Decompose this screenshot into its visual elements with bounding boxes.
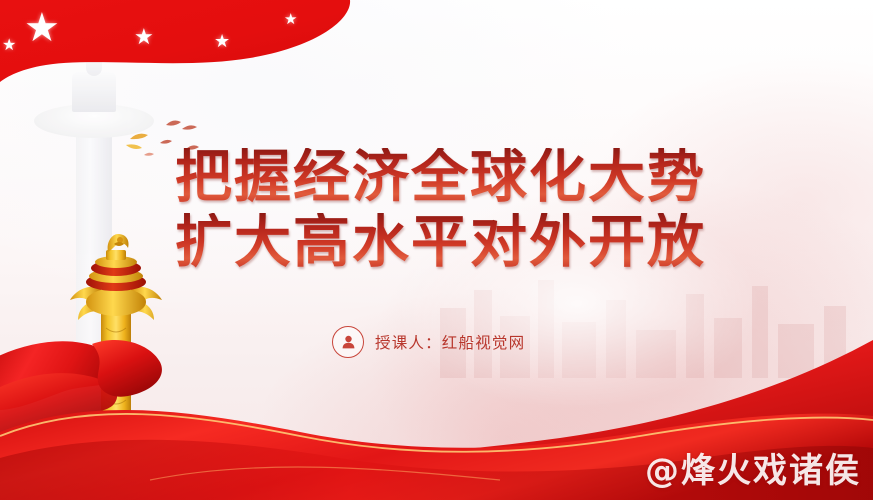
- presentation-slide: ★★★★★ 把握经济全球化大势 扩大高水平对外开放: [0, 0, 873, 500]
- title-line-1: 把握经济全球化大势: [175, 148, 705, 207]
- star-icon: ★: [24, 8, 60, 48]
- star-icon: ★: [214, 32, 230, 50]
- top-red-banner: ★★★★★: [0, 0, 360, 110]
- star-icon: ★: [284, 12, 297, 27]
- watermark-text: @烽火戏诸侯: [645, 443, 861, 492]
- star-icon: ★: [134, 26, 154, 48]
- title-line-2: 扩大高水平对外开放: [175, 213, 705, 272]
- star-icon: ★: [2, 38, 16, 54]
- slide-title-block: 把握经济全球化大势 扩大高水平对外开放: [175, 148, 705, 271]
